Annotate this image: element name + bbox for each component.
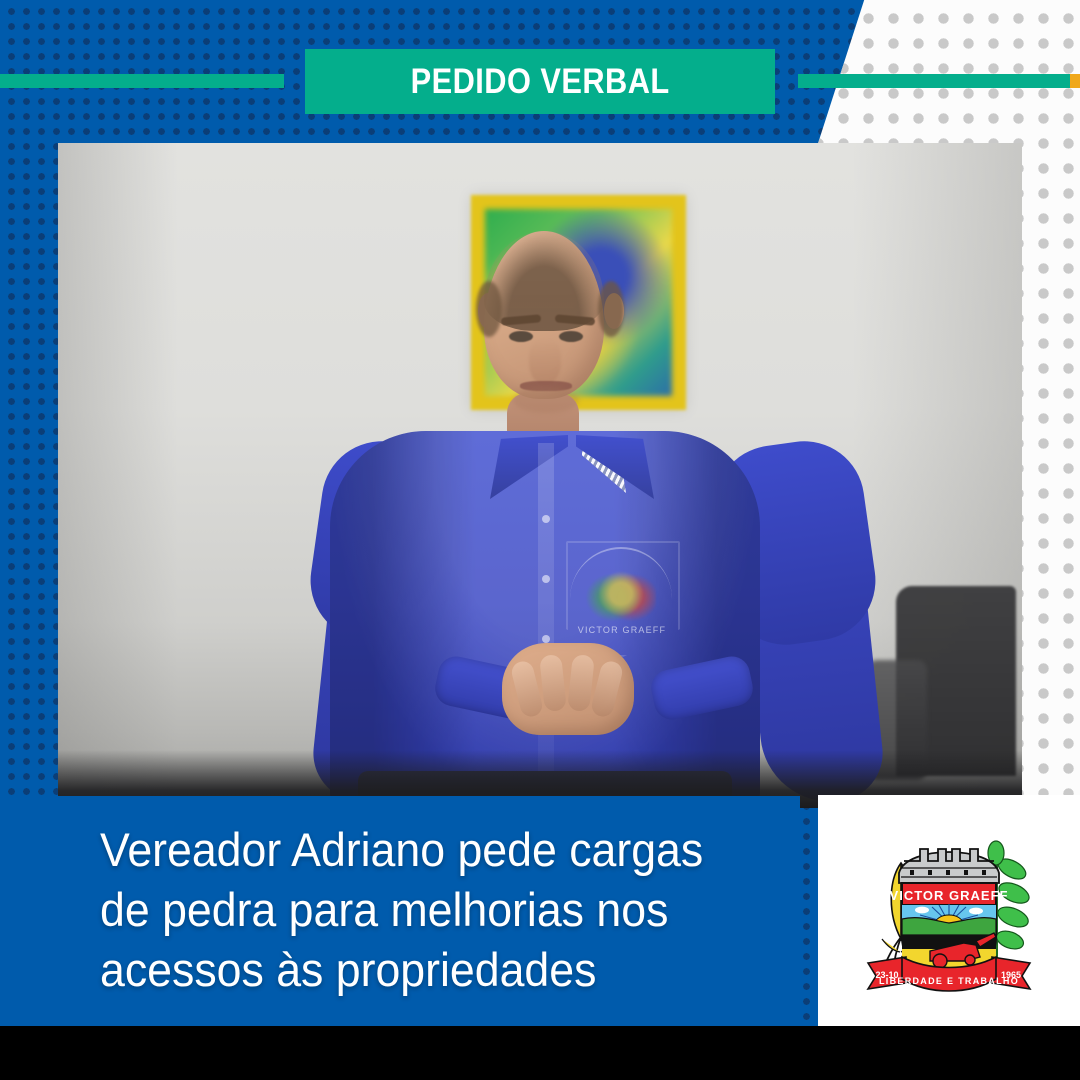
shirt-pocket-label: VICTOR GRAEFF xyxy=(570,625,674,635)
eye-right xyxy=(559,331,583,342)
finger-3 xyxy=(567,654,595,712)
nose xyxy=(529,339,561,385)
social-card: PEDIDO VERBAL xyxy=(0,0,1080,1080)
person-figure: VICTOR GRAEFF xyxy=(58,143,1022,808)
eye-left xyxy=(509,331,533,342)
hair-side-right xyxy=(598,281,624,337)
caption-line-1: Vereador Adriano pede cargas xyxy=(100,820,727,880)
clasped-hands xyxy=(502,643,634,735)
orange-accent-cap xyxy=(1070,74,1080,88)
banner-title: PEDIDO VERBAL xyxy=(411,62,670,102)
chin-shadow xyxy=(513,387,579,413)
ribbon-center-text: LIBERDADE E TRABALHO xyxy=(879,976,1019,986)
subject-photo: VICTOR GRAEFF xyxy=(58,143,1022,808)
shield-city-text: VICTOR GRAEFF xyxy=(890,888,1009,903)
mural-crown-icon xyxy=(899,849,999,883)
hair-side-left xyxy=(476,281,502,337)
teal-rule-left xyxy=(0,74,284,88)
caption-panel: Vereador Adriano pede cargas de pedra pa… xyxy=(0,796,800,1026)
title-banner: PEDIDO VERBAL xyxy=(305,49,775,114)
caption-text-block: Vereador Adriano pede cargas de pedra pa… xyxy=(100,820,727,1000)
shirt-button-2 xyxy=(542,575,550,583)
shirt-pocket-emblem-icon xyxy=(586,559,656,621)
shirt-button-1 xyxy=(542,515,550,523)
logo-panel: VICTOR GRAEFF xyxy=(818,795,1080,1026)
shirt-button-3 xyxy=(542,635,550,643)
teal-rule-right xyxy=(798,74,1070,88)
finger-1 xyxy=(510,659,545,719)
finger-2 xyxy=(539,654,567,712)
finger-4 xyxy=(590,659,625,719)
bottom-black-bar xyxy=(0,1026,1080,1080)
caption-line-3: acessos às propriedades xyxy=(100,940,727,1000)
coat-of-arms-icon: VICTOR GRAEFF xyxy=(844,811,1054,1011)
caption-line-2: de pedra para melhorias nos xyxy=(100,880,727,940)
